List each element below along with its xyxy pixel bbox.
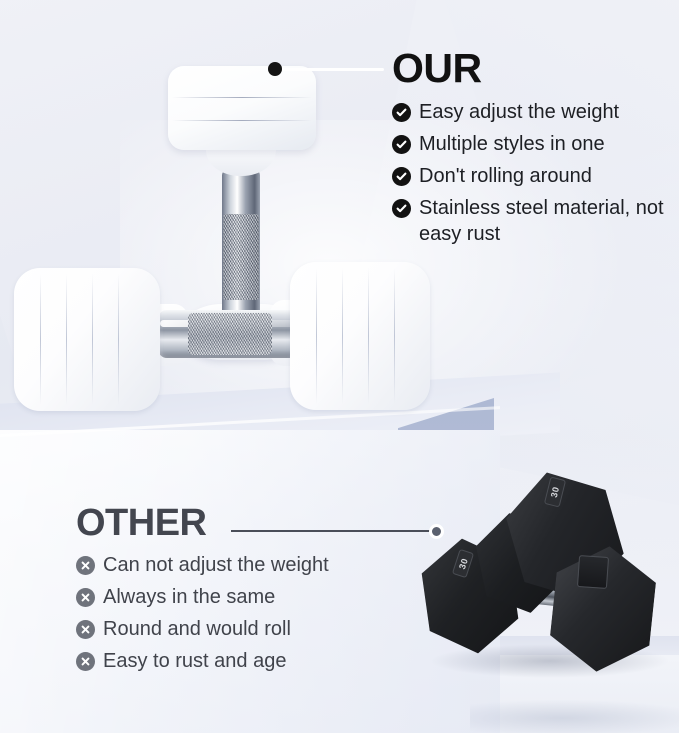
- our-feature-text: Easy adjust the weight: [419, 99, 619, 125]
- list-item: Round and would roll: [76, 616, 406, 642]
- list-item: Multiple styles in one: [392, 131, 672, 157]
- plate-seam: [66, 274, 67, 406]
- plate-seam: [342, 268, 343, 404]
- white-dumbbell-standing-plate-stack: [168, 66, 316, 150]
- our-feature-text: Stainless steel material, not easy rust: [419, 195, 672, 247]
- x-circle-icon: [76, 652, 95, 671]
- other-feature-text: Round and would roll: [103, 616, 291, 642]
- other-feature-text: Always in the same: [103, 584, 275, 610]
- other-text-block: OTHER Can not adjust the weight Always i…: [76, 504, 406, 680]
- list-item: Easy to rust and age: [76, 648, 406, 674]
- our-leader-line: [276, 68, 384, 71]
- white-dumbbell-handle-knurling: [188, 313, 272, 355]
- our-leader-dot: [268, 62, 282, 76]
- other-leader-dot: [429, 524, 444, 539]
- hex-dumbbell-end-cap: [577, 555, 609, 589]
- pedestal-ground-shadow: [470, 700, 679, 733]
- plate-seam: [368, 268, 369, 404]
- other-feature-list: Can not adjust the weight Always in the …: [76, 552, 406, 674]
- our-heading: OUR: [392, 48, 672, 89]
- x-circle-icon: [76, 620, 95, 639]
- infographic-canvas: 30 30: [0, 0, 679, 733]
- other-feature-text: Can not adjust the weight: [103, 552, 329, 578]
- white-dumbbell-lying: [8, 250, 438, 430]
- list-item: Always in the same: [76, 584, 406, 610]
- our-feature-list: Easy adjust the weight Multiple styles i…: [392, 99, 672, 247]
- x-circle-icon: [76, 588, 95, 607]
- check-circle-icon: [392, 167, 411, 186]
- other-feature-text: Easy to rust and age: [103, 648, 286, 674]
- x-circle-icon: [76, 556, 95, 575]
- plate-seam: [40, 274, 41, 406]
- plate-seam: [92, 274, 93, 406]
- check-circle-icon: [392, 103, 411, 122]
- list-item: Don't rolling around: [392, 163, 672, 189]
- our-feature-text: Multiple styles in one: [419, 131, 605, 157]
- plate-seam: [172, 97, 311, 98]
- plate-seam: [172, 120, 311, 121]
- white-dumbbell-plate-stack-left: [14, 268, 160, 411]
- white-dumbbell-plate-stack-right: [290, 262, 430, 410]
- check-circle-icon: [392, 135, 411, 154]
- our-feature-text: Don't rolling around: [419, 163, 592, 189]
- plate-seam: [316, 268, 317, 404]
- check-circle-icon: [392, 199, 411, 218]
- plate-seam: [118, 274, 119, 406]
- our-text-block: OUR Easy adjust the weight Multiple styl…: [392, 48, 672, 253]
- other-heading: OTHER: [76, 504, 406, 542]
- list-item: Easy adjust the weight: [392, 99, 672, 125]
- plate-seam: [394, 268, 395, 404]
- list-item: Stainless steel material, not easy rust: [392, 195, 672, 247]
- list-item: Can not adjust the weight: [76, 552, 406, 578]
